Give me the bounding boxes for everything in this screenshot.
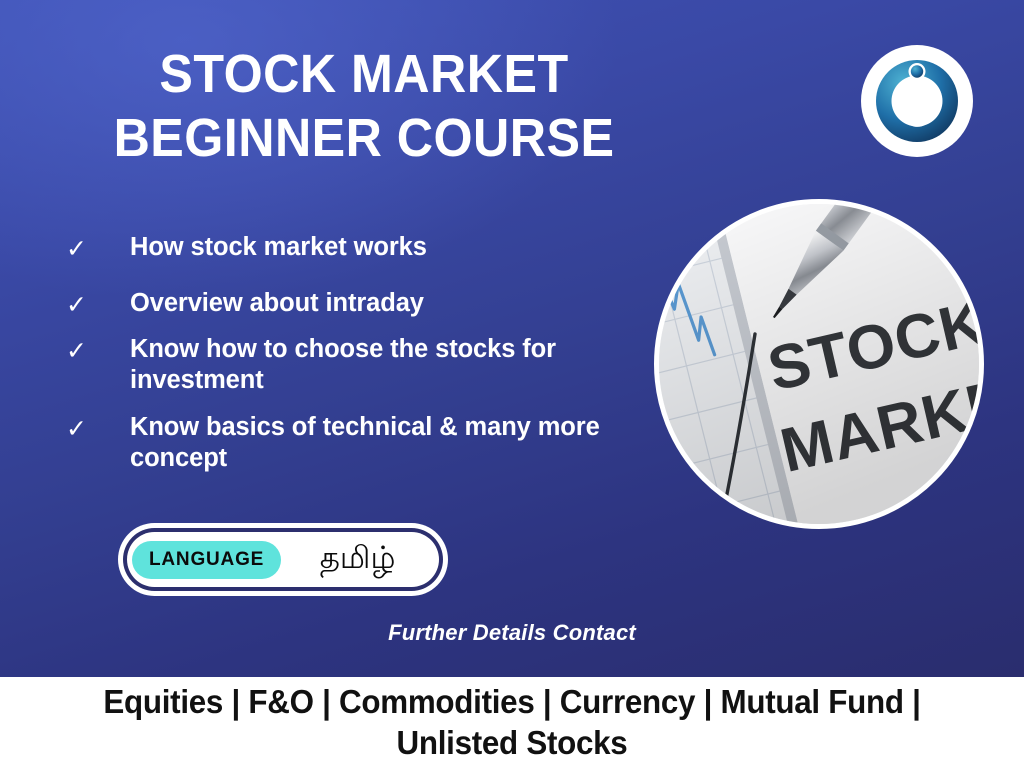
list-item: ✓ Know how to choose the stocks for inve… [60,334,620,396]
footer-services-text: Equities | F&O | Commodities | Currency … [94,682,930,763]
list-item-label: How stock market works [130,232,427,263]
page-title: STOCK MARKET BEGINNER COURSE [85,42,643,171]
check-icon: ✓ [60,334,130,368]
feature-list: ✓ How stock market works ✓ Overview abou… [60,232,620,474]
title-line-2: BEGINNER COURSE [85,106,643,170]
list-item-label: Overview about intraday [130,288,424,319]
language-badge-frame: LANGUAGE தமிழ் [123,528,443,591]
contact-prompt: Further Details Contact [0,620,1024,646]
list-item: ✓ Know basics of technical & many more c… [60,412,620,474]
list-item: ✓ Overview about intraday [60,288,620,322]
brand-logo-i-monogram-icon [874,58,960,144]
promo-poster: STOCK MARKET BEGINNER COURSE ✓ How stock… [0,0,1024,768]
brand-logo [861,45,973,157]
footer-bar: Equities | F&O | Commodities | Currency … [0,677,1024,768]
language-label: LANGUAGE [132,541,281,579]
list-item-label: Know basics of technical & many more con… [130,412,620,474]
list-item: ✓ How stock market works [60,232,620,266]
check-icon: ✓ [60,412,130,446]
language-badge: LANGUAGE தமிழ் [118,523,448,596]
check-icon: ✓ [60,232,130,266]
title-line-1: STOCK MARKET [85,42,643,106]
list-item-label: Know how to choose the stocks for invest… [130,334,620,396]
check-icon: ✓ [60,288,130,322]
language-value: தமிழ் [281,542,434,577]
stock-market-photo: STOCK MARKE [654,199,984,529]
language-badge-face: LANGUAGE தமிழ் [127,532,439,587]
